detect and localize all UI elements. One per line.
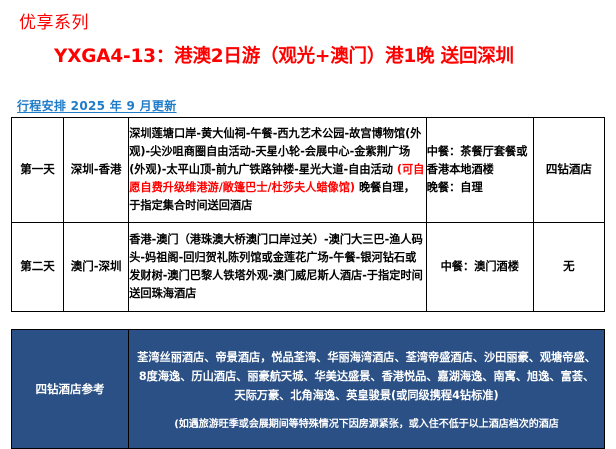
itinerary-detail: 香港-澳门（港珠澳大桥澳门口岸过关）-澳门大三巴-渔人码头-妈祖阁-回归贺礼陈列…	[129, 223, 427, 312]
itinerary-section-heading: 行程安排 2025 年 9 月更新	[17, 97, 177, 114]
hotel-reference-label: 四钻酒店参考	[12, 330, 129, 449]
table-row: 第一天 深圳-香港 深圳莲塘口岸-黄大仙祠-午餐-西九艺术公园-故宫博物馆(外观…	[12, 118, 605, 223]
hotel-reference-table: 四钻酒店参考 荃湾丝丽酒店、帝景酒店，悦品荃湾、华丽海湾酒店、荃湾帝盛酒店、沙田…	[11, 329, 605, 449]
page-title: YXGA4-13：港澳2日游（观光+澳门）港1晚 送回深圳	[54, 42, 514, 68]
itinerary-detail: 深圳莲塘口岸-黄大仙祠-午餐-西九艺术公园-故宫博物馆(外观)-尖沙咀商圈自由活…	[129, 118, 427, 223]
hotel-reference-list: 荃湾丝丽酒店、帝景酒店，悦品荃湾、华丽海湾酒店、荃湾帝盛酒店、沙田丽豪、观塘帝盛…	[137, 348, 596, 406]
hotel-reference-body: 荃湾丝丽酒店、帝景酒店，悦品荃湾、华丽海湾酒店、荃湾帝盛酒店、沙田丽豪、观塘帝盛…	[129, 330, 605, 449]
meal-dinner: 晚餐：自理	[427, 179, 533, 197]
day-label: 第一天	[12, 118, 64, 223]
hotel-grade: 四钻酒店	[533, 118, 604, 223]
meal-lunch: 中餐：茶餐厅套餐或香港本地酒楼	[427, 143, 533, 179]
meal-lunch: 中餐：澳门酒楼	[427, 258, 533, 276]
day-label: 第二天	[12, 223, 64, 312]
itinerary-detail-text: 深圳莲塘口岸-黄大仙祠-午餐-西九艺术公园-故宫博物馆(外观)-尖沙咀商圈自由活…	[129, 127, 421, 176]
itinerary-detail-text: 香港-澳门（港珠澳大桥澳门口岸过关）-澳门大三巴-渔人码头-妈祖阁-回归贺礼陈列…	[129, 233, 423, 300]
table-row: 四钻酒店参考 荃湾丝丽酒店、帝景酒店，悦品荃湾、华丽海湾酒店、荃湾帝盛酒店、沙田…	[12, 330, 605, 449]
route-label: 深圳-香港	[64, 118, 129, 223]
hotel-grade: 无	[533, 223, 604, 312]
hotel-reference-note: (如遇旅游旺季或会展期间等特殊情况下因房源紧张，或入住不低于以上酒店档次的酒店	[137, 417, 596, 432]
table-row: 第二天 澳门-深圳 香港-澳门（港珠澳大桥澳门口岸过关）-澳门大三巴-渔人码头-…	[12, 223, 605, 312]
meal-info: 中餐：澳门酒楼	[426, 223, 533, 312]
itinerary-table: 第一天 深圳-香港 深圳莲塘口岸-黄大仙祠-午餐-西九艺术公园-故宫博物馆(外观…	[11, 117, 605, 312]
series-label: 优享系列	[19, 14, 89, 34]
meal-info: 中餐：茶餐厅套餐或香港本地酒楼 晚餐：自理	[426, 118, 533, 223]
route-label: 澳门-深圳	[64, 223, 129, 312]
